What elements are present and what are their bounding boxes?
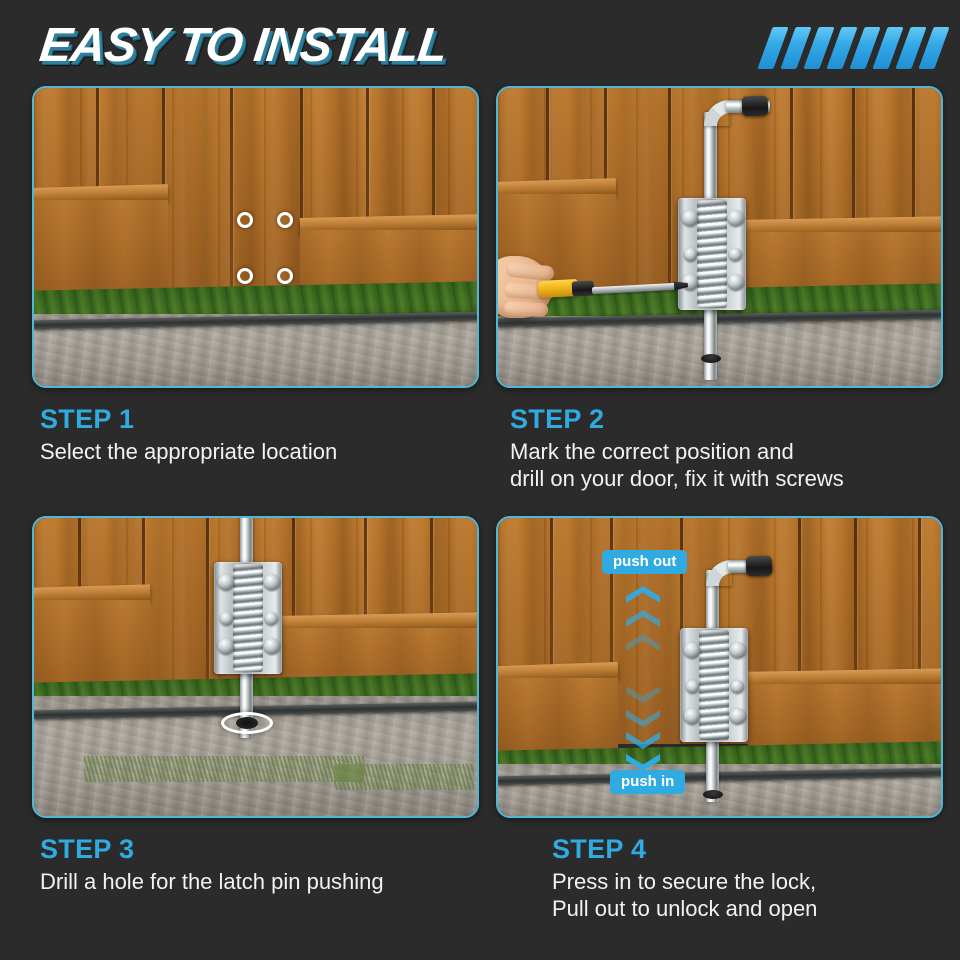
drill-mark-icon (237, 268, 253, 284)
latch-knob-cap (746, 556, 773, 577)
weeds (334, 764, 474, 790)
gate-scene (34, 88, 477, 386)
screw-bolt-icon (730, 642, 746, 658)
screw-bolt-icon (264, 574, 280, 590)
gate-lower-panel-left (34, 200, 168, 298)
screw-bolt-icon (218, 574, 234, 590)
step-3-caption: STEP 3 Drill a hole for the latch pin pu… (40, 834, 480, 896)
plank-seam (206, 518, 209, 697)
gate-scene: push out push in (498, 518, 941, 816)
push-in-badge: push in (610, 770, 685, 794)
latch-spring (699, 630, 729, 740)
latch-knob-cap (742, 96, 769, 117)
latch-spring (233, 564, 263, 672)
plank-seam (230, 88, 233, 291)
step-3-photo (32, 516, 479, 818)
header-banner: EASY TO INSTALL (0, 0, 960, 86)
drill-mark-icon (237, 212, 253, 228)
steps-grid: STEP 1 Select the appropriate location (0, 86, 960, 960)
step-card-4: push out push in STEP 4 Press in to secu… (496, 516, 951, 818)
step-2-caption: STEP 2 Mark the correct position and dri… (510, 404, 950, 493)
screw-bolt-icon (684, 708, 700, 724)
ground-gravel (498, 316, 941, 386)
step-card-1: STEP 1 Select the appropriate location (32, 86, 487, 388)
step-1-photo (32, 86, 479, 388)
step-2-label: STEP 2 (510, 404, 950, 435)
push-out-badge: push out (602, 550, 687, 574)
screw-bolt-icon (220, 612, 233, 625)
finger (504, 301, 549, 317)
weeds (84, 756, 364, 782)
screw-bolt-icon (728, 274, 744, 290)
gate-scene (498, 88, 941, 386)
step-4-caption: STEP 4 Press in to secure the lock, Pull… (552, 834, 960, 923)
screw-bolt-icon (218, 638, 234, 654)
page-title: EASY TO INSTALL (37, 18, 450, 73)
screw-bolt-icon (684, 248, 697, 261)
step-4-photo: push out push in (496, 516, 943, 818)
screw-bolt-icon (728, 210, 744, 226)
screw-bolt-icon (264, 638, 280, 654)
step-3-label: STEP 3 (40, 834, 480, 865)
screw-bolt-icon (265, 612, 278, 625)
step-2-photo (496, 86, 943, 388)
step-1-caption: STEP 1 Select the appropriate location (40, 404, 480, 466)
gate-lower-panel-left (498, 678, 618, 754)
drilled-hole (236, 717, 258, 729)
screw-bolt-icon (730, 708, 746, 724)
step-4-description: Press in to secure the lock, Pull out to… (552, 869, 960, 923)
latch-pin-tip (701, 354, 721, 363)
step-card-3: STEP 3 Drill a hole for the latch pin pu… (32, 516, 487, 818)
step-1-description: Select the appropriate location (40, 439, 480, 466)
step-3-description: Drill a hole for the latch pin pushing (40, 869, 480, 896)
step-card-2: STEP 2 Mark the correct position and dri… (496, 86, 951, 388)
screw-bolt-icon (684, 642, 700, 658)
latch-pin-tip (703, 790, 723, 799)
screw-bolt-icon (686, 680, 699, 693)
drill-mark-icon (277, 212, 293, 228)
step-1-label: STEP 1 (40, 404, 480, 435)
screw-bolt-icon (731, 680, 744, 693)
step-2-description: Mark the correct position and drill on y… (510, 439, 950, 493)
drill-mark-icon (277, 268, 293, 284)
gate-scene (34, 518, 477, 816)
screw-bolt-icon (682, 210, 698, 226)
latch-spring (697, 200, 727, 308)
step-4-label: STEP 4 (552, 834, 960, 865)
screw-bolt-icon (729, 248, 742, 261)
decorative-stripes (765, 27, 942, 69)
